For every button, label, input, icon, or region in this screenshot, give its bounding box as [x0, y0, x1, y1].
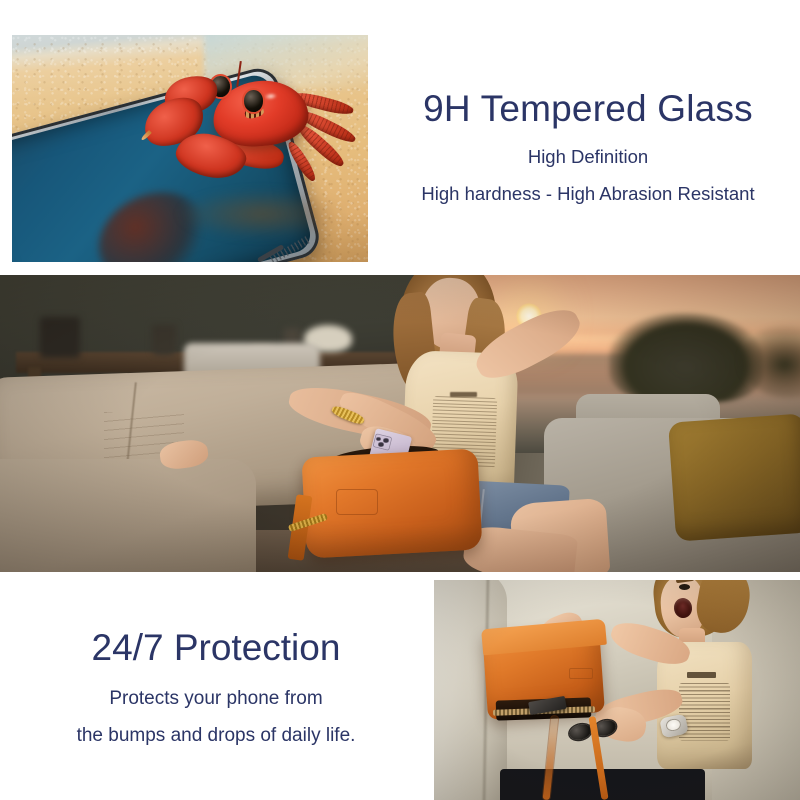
tank-top-print-text	[679, 683, 730, 740]
protection-text-block: 24/7 Protection Protects your phone from…	[10, 628, 422, 751]
camera-lens	[378, 442, 384, 447]
decor-vase	[152, 325, 176, 355]
crab-antenna	[236, 61, 241, 87]
red-crab	[147, 58, 353, 221]
tank-top-print-title	[687, 672, 716, 677]
sofa-armrest	[0, 459, 256, 572]
decor-canister	[40, 317, 80, 359]
orange-leather-handbag	[301, 449, 482, 559]
crab-pinching-phone-photo	[12, 35, 368, 262]
tempered-glass-headline: 9H Tempered Glass	[382, 88, 794, 129]
throw-pillow	[668, 413, 800, 541]
crab-eye	[244, 90, 263, 111]
handbag-logo-patch	[336, 489, 378, 515]
handbag-logo-patch	[569, 668, 593, 679]
shell-highlight	[264, 92, 278, 101]
tempered-glass-subline-1: High Definition	[382, 143, 794, 172]
camera-lens	[383, 438, 389, 443]
protection-subline-1: Protects your phone from	[10, 683, 422, 714]
tempered-glass-subline-2: High hardness - High Abrasion Resistant	[382, 180, 794, 209]
protection-subline-2: the bumps and drops of daily life.	[10, 720, 422, 751]
product-feature-collage: 9H Tempered Glass High Definition High h…	[0, 0, 800, 800]
tempered-glass-text-block: 9H Tempered Glass High Definition High h…	[382, 88, 794, 209]
protection-headline: 24/7 Protection	[10, 628, 422, 669]
woman-dropping-bag-photo	[434, 580, 800, 800]
woman-putting-phone-in-bag-photo	[0, 275, 800, 572]
